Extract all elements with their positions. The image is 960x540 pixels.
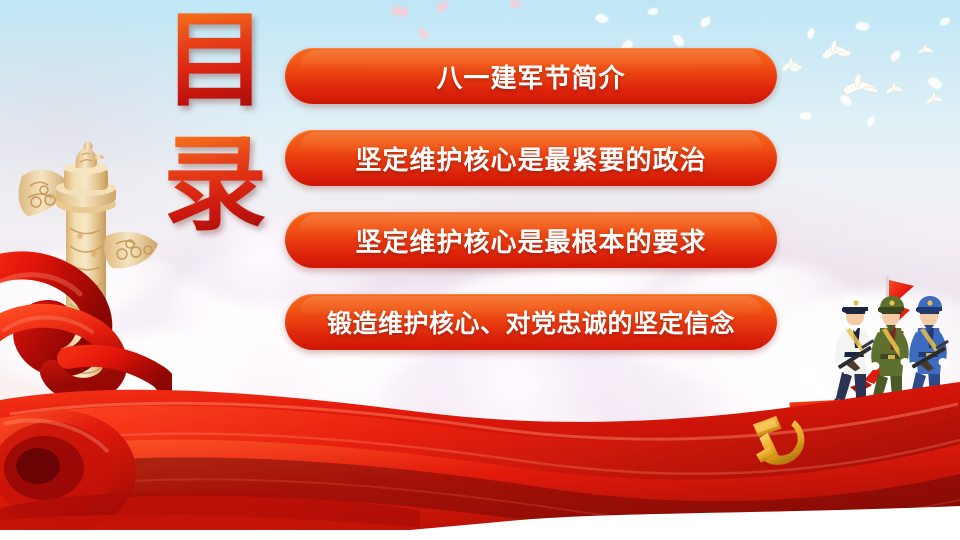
presentation-slide: 目 录 八一建军节简介 坚定维护核心是最紧要的政治 坚定维护核心是最根本的要求 … <box>0 0 960 540</box>
menu-item-3-label: 坚定维护核心是最根本的要求 <box>355 222 706 259</box>
contents-menu: 八一建军节简介 坚定维护核心是最紧要的政治 坚定维护核心是最根本的要求 锻造维护… <box>285 48 777 376</box>
menu-item-4-label: 锻造维护核心、对党忠诚的坚定信念 <box>327 304 735 340</box>
title-char-mu: 目 <box>150 8 280 112</box>
menu-item-1-label: 八一建军节简介 <box>436 58 625 95</box>
menu-item-3[interactable]: 坚定维护核心是最根本的要求 <box>285 212 777 268</box>
party-emblem <box>735 412 821 474</box>
page-title: 目 录 <box>150 8 280 248</box>
title-char-lu: 录 <box>150 132 280 236</box>
menu-item-2[interactable]: 坚定维护核心是最紧要的政治 <box>285 130 777 186</box>
bottom-white-strip <box>0 530 960 540</box>
menu-item-2-label: 坚定维护核心是最紧要的政治 <box>355 140 706 177</box>
menu-item-4[interactable]: 锻造维护核心、对党忠诚的坚定信念 <box>285 294 777 350</box>
menu-item-1[interactable]: 八一建军节简介 <box>285 48 777 104</box>
